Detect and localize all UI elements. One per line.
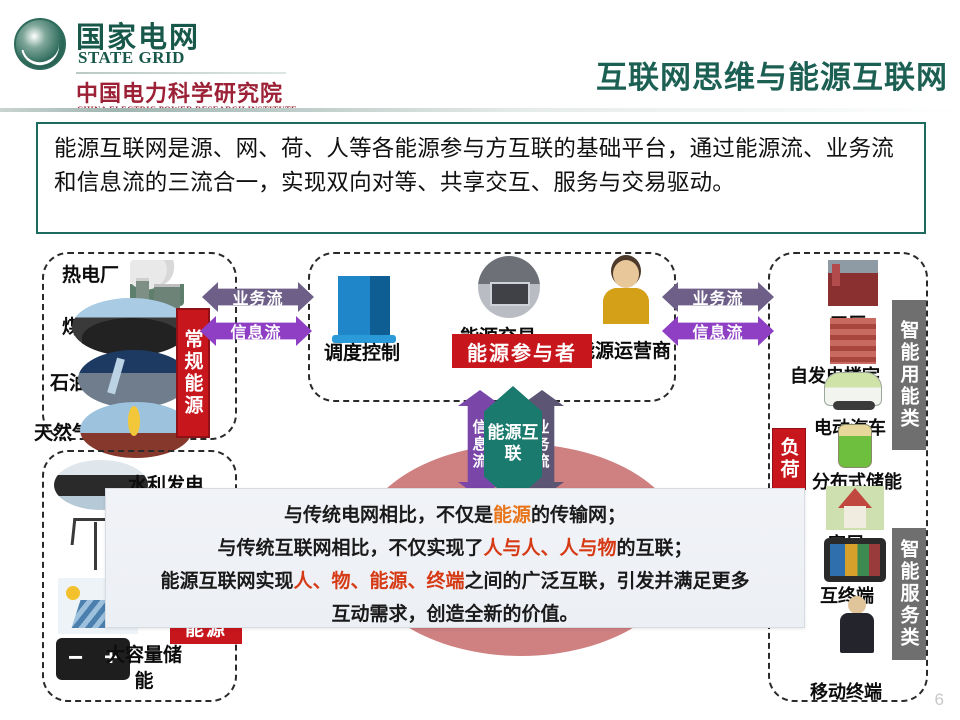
callout-l1-highlight: 能源 <box>493 504 531 526</box>
brand-name-en: STATE GRID <box>78 48 185 68</box>
coal-pile-icon <box>72 298 190 356</box>
page-title: 互联网思维与能源互联网 <box>596 52 948 97</box>
callout-l1-b: 的传输网； <box>531 504 626 526</box>
brand-divider <box>76 72 286 74</box>
operator-person-icon <box>600 260 650 324</box>
home-icon <box>826 486 884 530</box>
arrow-information-flow-right: 信息流 <box>662 316 774 346</box>
label-thermal-plant: 热电厂 <box>62 260 119 287</box>
callout-l2-b: 的互联； <box>617 537 693 559</box>
banner-smart-energy-use: 智能用能类 <box>892 300 926 450</box>
distributed-storage-icon <box>838 424 872 468</box>
core-label: 能源互联 <box>484 423 542 465</box>
arrow-business-flow-right: 业务流 <box>662 282 774 312</box>
diagram-canvas: 热电厂 煤 石油 天然气 常规能源 水利发电 大容量储能 能源 调度控制 能源交… <box>0 238 960 720</box>
mobile-user-icon <box>836 596 876 654</box>
label-mobile-terminal: 移动终端 <box>810 678 882 704</box>
factory-icon <box>828 260 878 306</box>
callout-l2-highlight: 人与人、人与物 <box>483 537 616 559</box>
callout-l3-a: 能源互联网实现 <box>160 570 293 592</box>
callout-l2-a: 与传统互联网相比，不仅实现了 <box>217 537 483 559</box>
label-large-capacity-storage: 大容量储能 <box>98 642 190 694</box>
intro-paragraph: 能源互联网是源、网、荷、人等各能源参与方互联的基础平台，通过能源流、业务流和信息… <box>54 132 910 200</box>
smart-terminal-icon <box>824 538 886 582</box>
state-grid-globe-icon <box>14 18 66 70</box>
callout-box: 与传统电网相比，不仅是能源的传输网； 与传统互联网相比，不仅实现了人与人、人与物… <box>105 488 805 628</box>
header-divider <box>0 108 960 112</box>
callout-l3-b: 之间的广泛互联，引发并满足更多 <box>465 570 750 592</box>
office-building-icon <box>338 276 390 338</box>
callout-line-3: 能源互联网实现人、物、能源、终端之间的广泛互联，引发并满足更多 <box>118 565 792 598</box>
label-dispatch-control: 调度控制 <box>324 338 400 365</box>
intro-textbox: 能源互联网是源、网、荷、人等各能源参与方互联的基础平台，通过能源流、业务流和信息… <box>36 122 926 234</box>
callout-line-1: 与传统电网相比，不仅是能源的传输网； <box>118 499 792 532</box>
callout-line-2: 与传统互联网相比，不仅实现了人与人、人与物的互联； <box>118 532 792 565</box>
callout-line-4: 互动需求，创造全新的价值。 <box>118 598 792 631</box>
electric-car-icon <box>824 372 882 406</box>
callout-l3-highlight: 人、物、能源、终端 <box>293 570 464 592</box>
banner-load: 负荷 <box>772 428 806 490</box>
banner-energy-participant: 能源参与者 <box>452 334 592 368</box>
page-number: 6 <box>935 690 944 710</box>
slide-header: 国家电网 STATE GRID 中国电力科学研究院 CHINA ELECTRIC… <box>0 0 960 110</box>
building-generation-icon <box>830 318 876 364</box>
banner-smart-service: 智能服务类 <box>892 528 926 660</box>
callout-l1-a: 与传统电网相比，不仅是 <box>284 504 493 526</box>
trading-monitor-icon <box>478 256 540 318</box>
oil-rig-icon <box>78 350 190 408</box>
